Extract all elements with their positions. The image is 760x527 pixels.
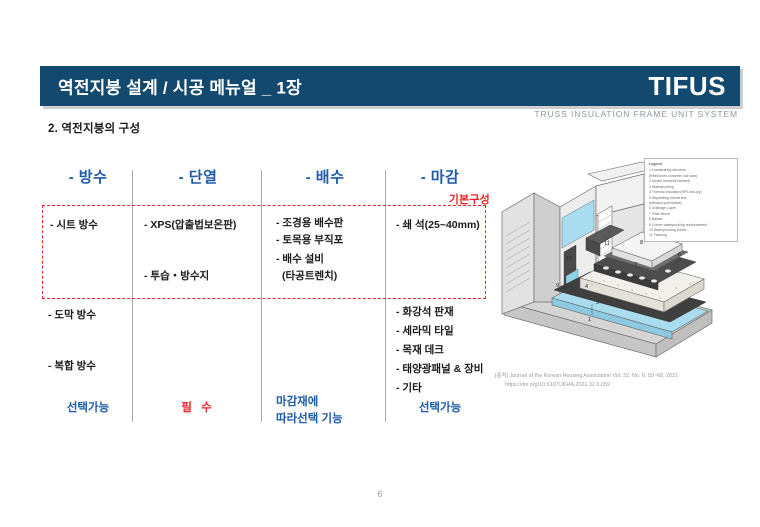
basic-composition-box (42, 205, 486, 299)
citation-text: [출처] Journal of the Korean Housing Assoc… (495, 373, 678, 379)
list-item: - 화강석 판재 (396, 305, 454, 320)
callout-1: 1 (588, 317, 591, 323)
slide-header-bar: 역전지붕 설계 / 시공 메뉴얼 _ 1장 TIFUS (40, 66, 740, 106)
list-item: - 세라믹 타일 (396, 324, 454, 339)
status-badge: 선택가능 (388, 400, 492, 417)
callout-3: 3 (596, 300, 599, 306)
column-header: - 마감 (388, 166, 492, 187)
legend-title: Legend (649, 162, 734, 167)
section-heading: 2. 역전지붕의 구성 (48, 120, 140, 136)
callout-8: 8 (640, 240, 643, 246)
list-item: - 복합 방수 (48, 359, 96, 374)
inverted-roof-diagram: 1 3 4 6 7 8 9 10 11 Legend 1 Loadbearing… (492, 152, 742, 367)
list-item: - 기타 (396, 381, 422, 396)
status-badge: 필 수 (134, 400, 262, 417)
citation-doi: https://doi.org/10.6107/JKHA.2021.32.6.0… (495, 381, 747, 390)
composition-table: - 방수 - 시트 방수 - 도막 방수 - 복합 방수 선택가능 - 단열 -… (44, 166, 492, 434)
brand-tagline: TRUSS INSULATION FRAME UNIT SYSTEM (534, 109, 738, 119)
list-item: - 목재 데크 (396, 343, 444, 358)
diagram-legend: Legend 1 Loadbearing structure (Reinforc… (644, 158, 738, 242)
status-line-1: 마감재에 (276, 396, 318, 408)
page-title: 역전지붕 설계 / 시공 메뉴얼 _ 1장 (58, 74, 302, 99)
legend-entry: 11 Flashing (649, 233, 734, 238)
slide-canvas: 역전지붕 설계 / 시공 메뉴얼 _ 1장 TIFUS TRUSS INSULA… (0, 0, 760, 527)
source-citation: [출처] Journal of the Korean Housing Assoc… (495, 372, 747, 390)
brand-logo: TIFUS (648, 73, 726, 99)
callout-7: 7 (634, 262, 637, 268)
status-badge: 선택가능 (44, 400, 132, 417)
callout-4: 4 (585, 284, 588, 290)
list-item: - 태양광패널 & 장비 (396, 362, 483, 377)
status-line-2: 따라선택 기능 (276, 413, 343, 425)
callout-6: 6 (678, 252, 681, 258)
page-number: 6 (0, 489, 760, 499)
column-header: - 배수 (264, 166, 386, 187)
status-badge: 마감재에 따라선택 기능 (264, 394, 343, 429)
callout-9: 9 (556, 283, 559, 289)
callout-10: 10 (566, 256, 572, 262)
column-header: - 단열 (134, 166, 262, 187)
callout-11: 11 (604, 241, 610, 247)
column-header: - 방수 (44, 166, 132, 187)
list-item: - 도막 방수 (48, 308, 96, 323)
